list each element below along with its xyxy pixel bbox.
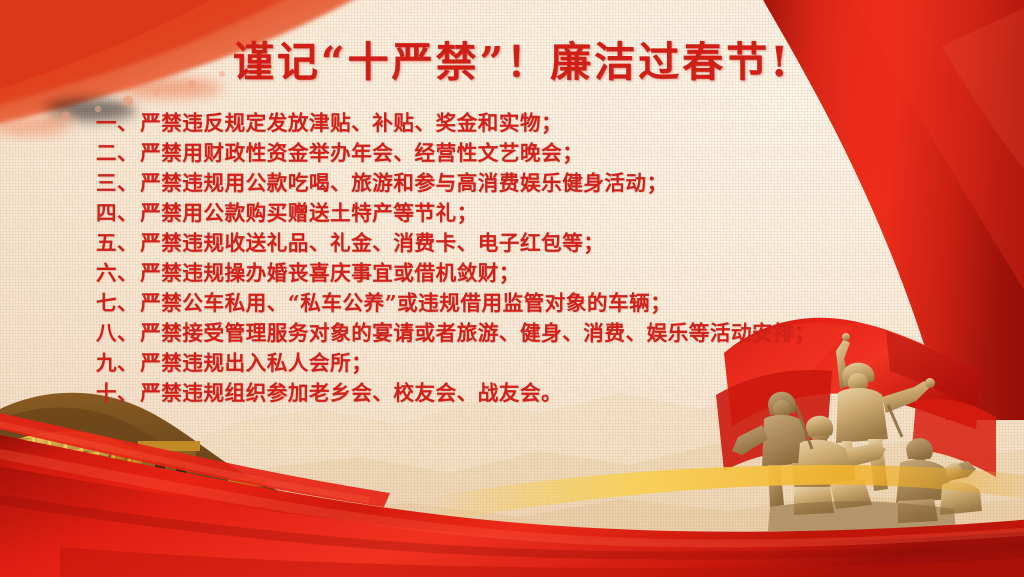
rule-index-8: 八、 — [96, 321, 138, 345]
rule-item-2: 二、严禁用财政性资金举办年会、经营性文艺晚会； — [96, 138, 926, 168]
rule-index-5: 五、 — [96, 231, 138, 255]
rule-item-3: 三、严禁违规用公款吃喝、旅游和参与高消费娱乐健身活动； — [96, 168, 926, 198]
rule-item-10: 十、严禁违规组织参加老乡会、校友会、战友会。 — [96, 378, 926, 408]
poster-canvas: 谨记“十严禁”！廉洁过春节! 一、严禁违反规定发放津贴、补贴、奖金和实物； 二、… — [0, 0, 1024, 577]
rule-text-6: 严禁违规操办婚丧喜庆事宜或借机敛财； — [140, 261, 520, 285]
rules-list: 一、严禁违反规定发放津贴、补贴、奖金和实物； 二、严禁用财政性资金举办年会、经营… — [96, 108, 926, 408]
rule-item-8: 八、严禁接受管理服务对象的宴请或者旅游、健身、消费、娱乐等活动安排； — [96, 318, 926, 348]
rule-text-4: 严禁用公款购买赠送土特产等节礼； — [140, 201, 478, 225]
rule-index-2: 二、 — [96, 141, 138, 165]
rule-index-9: 九、 — [96, 351, 138, 375]
rule-index-1: 一、 — [96, 111, 138, 135]
rule-text-8: 严禁接受管理服务对象的宴请或者旅游、健身、消费、娱乐等活动安排； — [140, 321, 815, 345]
rule-index-4: 四、 — [96, 201, 138, 225]
rule-index-7: 七、 — [96, 291, 138, 315]
rule-text-10: 严禁违规组织参加老乡会、校友会、战友会。 — [140, 381, 562, 405]
rule-text-3: 严禁违规用公款吃喝、旅游和参与高消费娱乐健身活动； — [140, 171, 668, 195]
rule-item-5: 五、严禁违规收送礼品、礼金、消费卡、电子红包等； — [96, 228, 926, 258]
rule-item-4: 四、严禁用公款购买赠送土特产等节礼； — [96, 198, 926, 228]
rule-text-5: 严禁违规收送礼品、礼金、消费卡、电子红包等； — [140, 231, 604, 255]
rule-index-3: 三、 — [96, 171, 138, 195]
rule-item-9: 九、严禁违规出入私人会所； — [96, 348, 926, 378]
page-title: 谨记“十严禁”！廉洁过春节! — [233, 28, 791, 88]
rule-item-7: 七、严禁公车私用、“私车公养”或违规借用监管对象的车辆； — [96, 288, 926, 318]
rule-item-6: 六、严禁违规操办婚丧喜庆事宜或借机敛财； — [96, 258, 926, 288]
rule-text-7: 严禁公车私用、“私车公养”或违规借用监管对象的车辆； — [140, 291, 671, 315]
rule-index-6: 六、 — [96, 261, 138, 285]
rule-text-2: 严禁用财政性资金举办年会、经营性文艺晚会； — [140, 141, 583, 165]
rule-text-9: 严禁违规出入私人会所； — [140, 351, 372, 375]
title-container: 谨记“十严禁”！廉洁过春节! — [0, 28, 1024, 88]
rule-index-10: 十、 — [96, 381, 138, 405]
rule-item-1: 一、严禁违反规定发放津贴、补贴、奖金和实物； — [96, 108, 926, 138]
rule-text-1: 严禁违反规定发放津贴、补贴、奖金和实物； — [140, 111, 562, 135]
